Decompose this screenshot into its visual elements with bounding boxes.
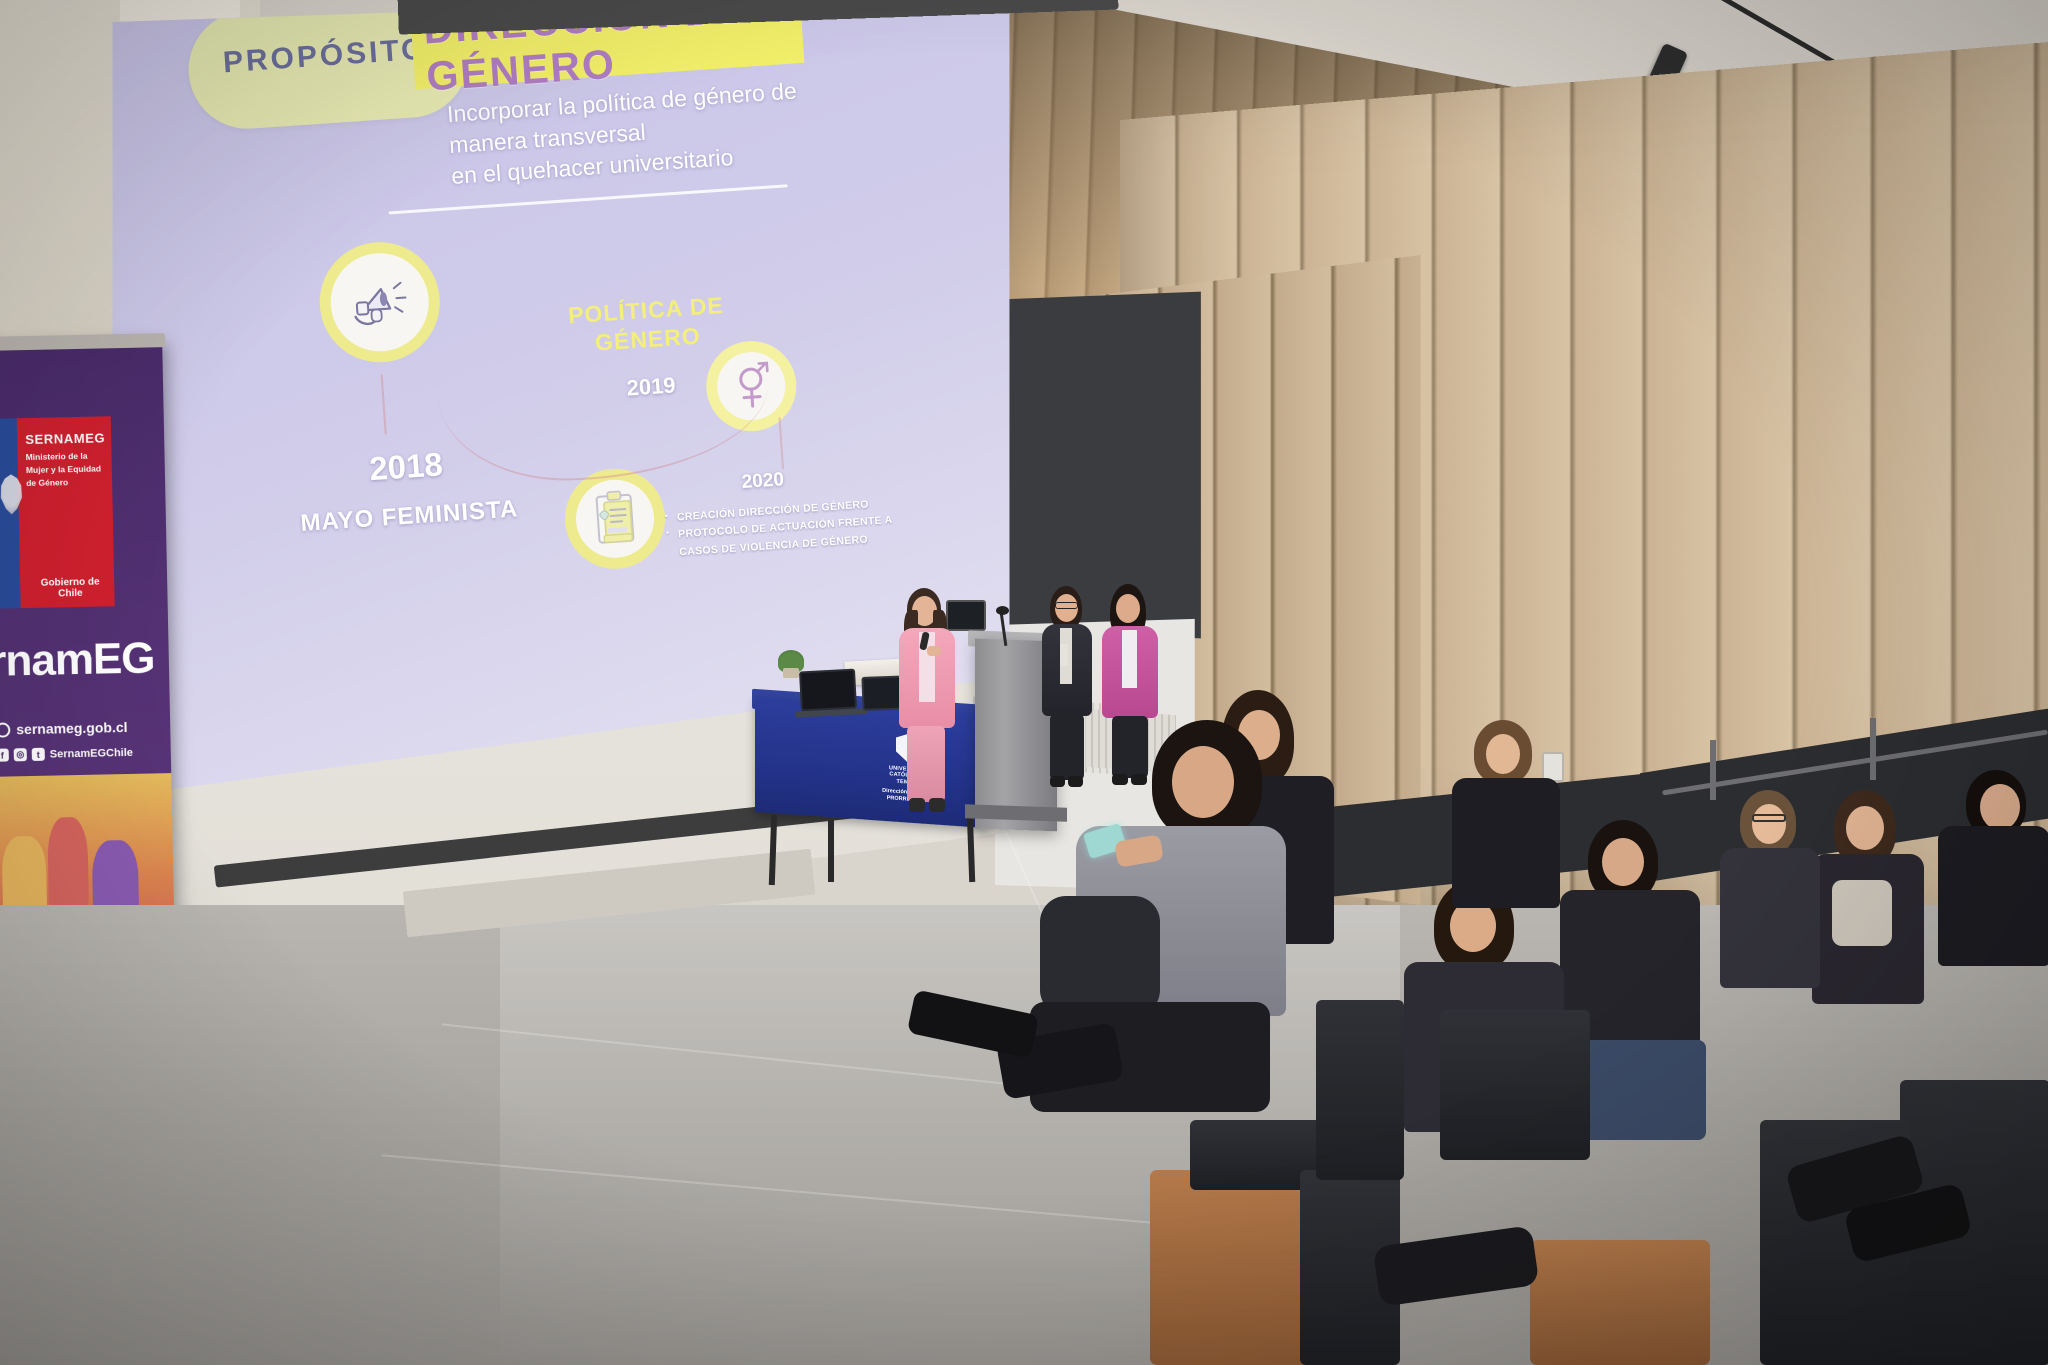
banner-government-label: Gobierno de Chile [30, 576, 110, 600]
torso [1452, 778, 1560, 908]
banner-social-handle: SernamEGChile [50, 746, 133, 760]
timeline-tick-1 [381, 374, 387, 434]
handbag [1040, 896, 1160, 1016]
auditorium-chair[interactable] [1316, 1000, 1404, 1180]
timeline-label-mayo-feminista: MAYO FEMINISTA [284, 494, 535, 539]
auditorium-chair-wood[interactable] [1530, 1240, 1710, 1365]
hand [927, 646, 941, 656]
instagram-icon: ◎ [14, 748, 27, 761]
auditorium-chair[interactable] [1440, 1010, 1590, 1160]
audience-member [1716, 790, 1826, 1090]
torso [1938, 826, 2048, 966]
laptop-1 [799, 669, 857, 712]
shoe [929, 798, 945, 812]
audience-member [1930, 770, 2048, 1070]
banner-website: sernameg.gob.cl [0, 718, 165, 738]
speaker-with-microphone [893, 588, 963, 818]
eyeglasses-icon [1752, 814, 1786, 822]
ministry-line-3: de Género [26, 475, 106, 489]
timeline-2020-bullets: CREACIÓN DIRECCIÓN DE GÉNERO PROTOCOLO D… [665, 495, 898, 562]
torso [1720, 848, 1820, 988]
scarf [1832, 880, 1892, 946]
timeline-tick-2 [778, 417, 784, 469]
audience-member [1452, 720, 1572, 970]
small-plant [778, 650, 804, 672]
head [1980, 784, 2020, 830]
facebook-icon: f [0, 748, 9, 761]
audience-member-with-phone [1020, 720, 1340, 1150]
audience-member [1812, 790, 1932, 1110]
banner-org-name: SERNAMEG [25, 430, 105, 447]
podium-microphone [996, 606, 1009, 615]
eyeglasses-icon [1055, 602, 1078, 609]
banner-social: f ◎ t SernamEGChile [0, 745, 171, 762]
shoe [909, 798, 925, 812]
timeline-year-2018: 2018 [320, 442, 492, 491]
illustration-figure [47, 817, 89, 916]
id-badge [1060, 644, 1068, 666]
railing-post [1870, 718, 1876, 780]
head [1602, 838, 1644, 886]
head [1752, 804, 1786, 844]
head [1116, 594, 1140, 623]
projection-screen: PROPÓSITO DIRECCIÓN DE GÉNERO Incorporar… [108, 0, 1013, 992]
skirt-legs [907, 726, 945, 802]
head [1846, 806, 1884, 850]
slide-divider-line [389, 184, 788, 214]
blouse [1122, 630, 1137, 688]
ministry-line-2: Mujer y la Equidad [26, 462, 106, 476]
timeline-year-2020: 2020 [702, 467, 823, 497]
banner-top-rail [0, 333, 165, 351]
table-leg [828, 820, 834, 882]
megaphone-icon-circle [316, 238, 444, 366]
twitter-icon: t [32, 748, 45, 761]
clipboard-icon-circle [562, 465, 669, 572]
banner-ministry: Ministerio de la Mujer y la Equidad de G… [26, 449, 107, 489]
head [1172, 746, 1234, 818]
head [1486, 734, 1520, 774]
policy-center-label: POLÍTICA DE GÉNERO [560, 290, 734, 359]
megaphone-icon [347, 273, 413, 331]
banner-website-text: sernameg.gob.cl [16, 719, 128, 737]
banner-brand-wordmark: ernamEG [0, 633, 196, 688]
auditorium-scene: PROPÓSITO DIRECCIÓN DE GÉNERO Incorporar… [0, 0, 2048, 1365]
globe-icon [0, 722, 10, 737]
clipboard-icon [587, 488, 643, 549]
